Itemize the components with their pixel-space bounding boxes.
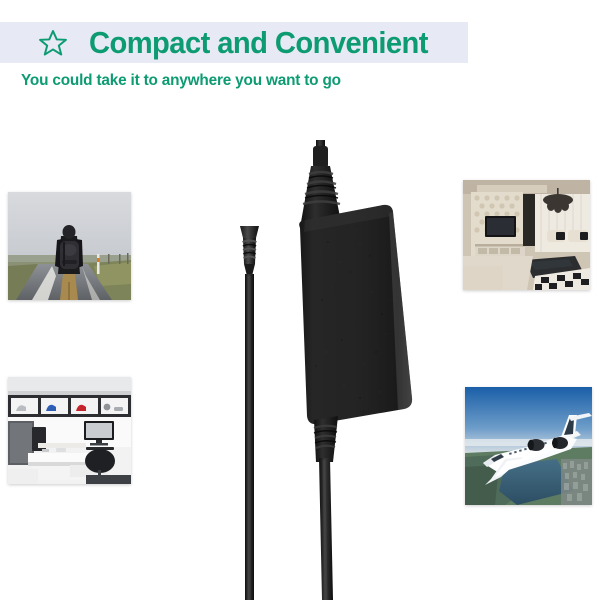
photo-office: [8, 377, 131, 484]
photo-airplane: [465, 387, 592, 505]
power-adapter: [0, 0, 600, 600]
star-outline-icon: [38, 28, 68, 58]
product-feature-banner: Compact and Convenient You could take it…: [0, 0, 600, 600]
photo-livingroom: [463, 180, 590, 290]
page-subtitle: You could take it to anywhere you want t…: [21, 73, 341, 89]
photo-backpacker: [8, 192, 131, 300]
header-row: Compact and Convenient: [0, 22, 468, 63]
page-title: Compact and Convenient: [89, 27, 428, 58]
